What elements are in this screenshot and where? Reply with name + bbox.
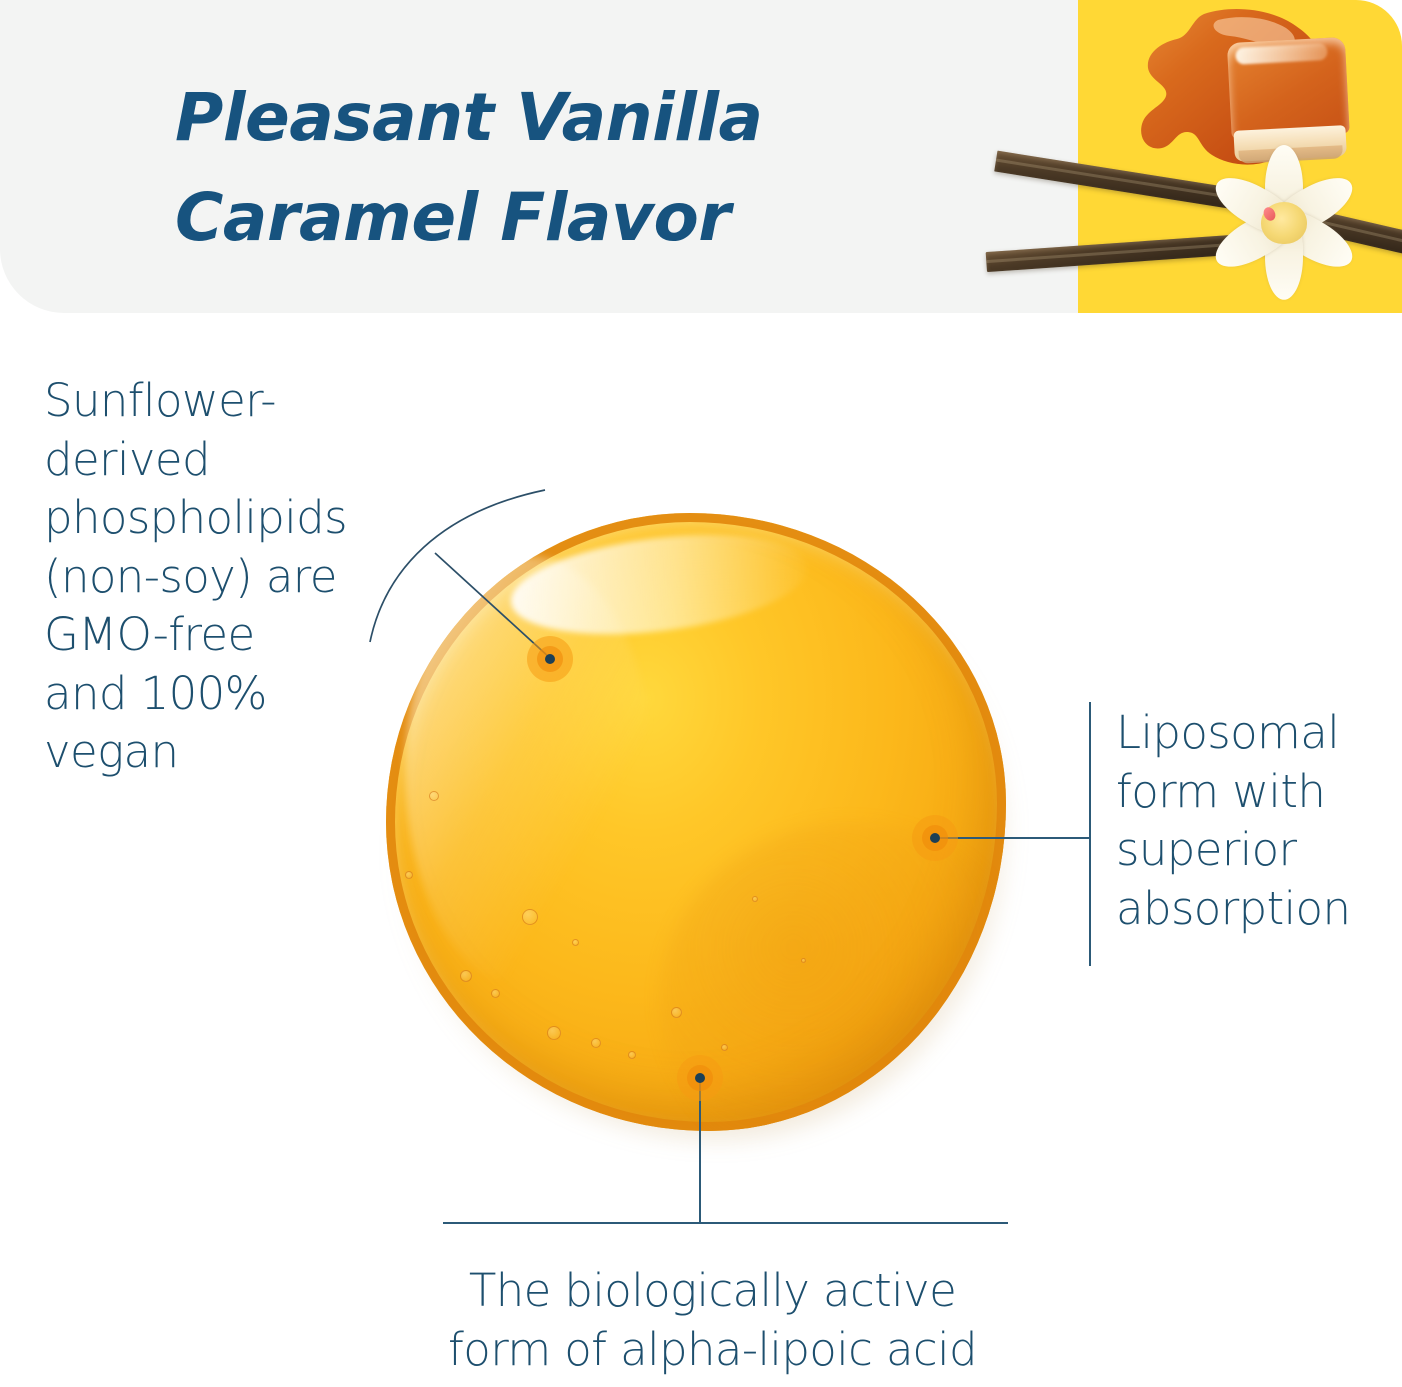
- callout-text-liposomal-absorption: Liposomal form with superior absorption: [1116, 704, 1396, 938]
- vanilla-flower-icon: [1204, 148, 1364, 298]
- droplet-body: [386, 513, 1006, 1131]
- page-title: Pleasant Vanilla Caramel Flavor: [175, 68, 975, 269]
- callout-text-alpha-lipoic-acid: The biologically active form of alpha-li…: [400, 1262, 1025, 1379]
- flavor-image-panel: [1078, 0, 1402, 313]
- callout-text-sunflower-phospholipids: Sunflower-derived phospholipids (non-soy…: [44, 372, 404, 782]
- gel-droplet-graphic: [368, 495, 1028, 1155]
